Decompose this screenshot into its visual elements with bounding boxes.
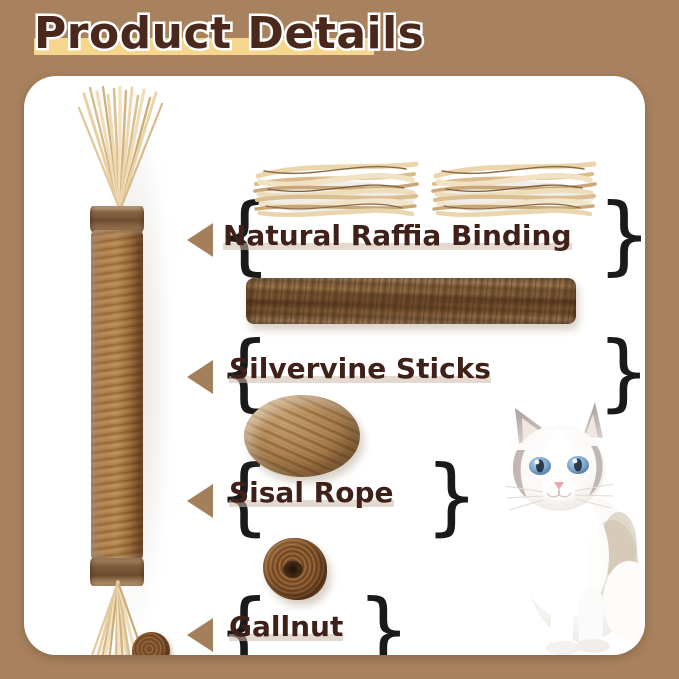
silvervine-stick-item: [246, 278, 576, 324]
label-silvervine: Silvervine Sticks: [229, 352, 491, 385]
label-raffia: Natural Raffia Binding: [223, 219, 572, 252]
arrow-left-triangle-icon: [187, 618, 213, 652]
gallnut-hole: [283, 561, 303, 578]
wood-collar-top: [90, 206, 144, 232]
sisal-wrapped-shaft: [91, 230, 143, 560]
content-card: { }: [24, 76, 645, 655]
sisal-rope-ball-item: [244, 395, 360, 477]
product-hero-image: [60, 80, 180, 652]
gallnut-item: [263, 538, 327, 600]
arrow-left-triangle-icon: [187, 360, 213, 394]
close-brace-gallnut: }: [357, 588, 410, 655]
title-area: Product Details: [0, 0, 679, 76]
arrow-left-triangle-icon: [187, 484, 213, 518]
close-brace-sisal: }: [425, 454, 478, 538]
page-title: Product Details: [34, 6, 424, 62]
ragdoll-cat-photo: [479, 396, 645, 655]
raffia-fan-top-icon: [74, 86, 166, 214]
arrow-left-triangle-icon: [187, 223, 213, 257]
label-gallnut: Gallnut: [229, 610, 343, 643]
close-brace-raffia: }: [597, 192, 645, 278]
label-sisal: Sisal Rope: [229, 476, 394, 509]
